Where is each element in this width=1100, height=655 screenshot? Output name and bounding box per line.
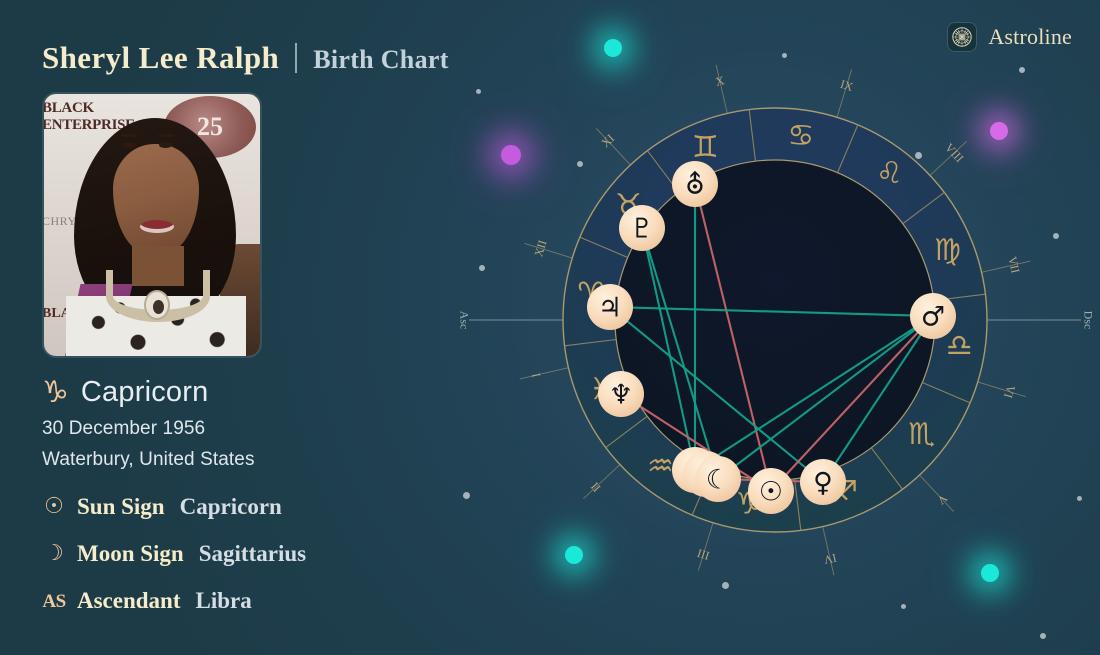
fact-value-moon: Sagittarius [199,541,306,567]
house-numeral-XII: XII [531,238,549,258]
house-numeral-X: X [714,73,726,89]
zodiac-cancer-icon: ♋ [787,118,814,153]
house-cusp-line [920,475,954,512]
planet-neptune[interactable]: ♆ [598,371,644,417]
neptune-icon: ♆ [609,380,633,411]
planet-jupiter[interactable]: ♃ [587,284,633,330]
chart-canvas: Sheryl Lee Ralph Birth Chart [0,0,1100,655]
moon-icon: ☽ [42,543,66,565]
fact-label-moon: Moon Sign [77,541,184,567]
zodiac-gemini-icon: ♊ [692,130,719,165]
fact-label-sun: Sun Sign [77,494,165,520]
house-cusp-line [596,128,630,165]
photo-pendant [144,290,170,320]
birth-chart-wheel[interactable]: AscDsc♈♉♊♋♌♍♎♏♐♑♒♓IIIIIIIVVVIVIIVIIIIXXX… [448,0,1100,655]
capricorn-icon: ♑ [42,378,69,408]
house-numeral-VIII: VIII [942,140,966,165]
planet-moon[interactable]: ☾ [695,456,741,502]
photo-eye-left [123,142,136,148]
house-cusp-line [583,465,620,499]
planet-venus[interactable]: ♀ [800,459,846,505]
house-cusp-line [520,368,569,379]
fact-value-ascendant: Libra [196,588,252,614]
primary-sign-label: Capricorn [81,376,209,409]
planet-mars[interactable]: ♂ [910,293,956,339]
page-title: Sheryl Lee Ralph Birth Chart [42,40,449,76]
zodiac-scorpio-icon: ♏ [908,417,935,452]
ascendant-icon: AS [42,592,66,611]
sun-icon: ☉ [759,477,783,508]
planet-sun[interactable]: ☉ [748,468,794,514]
house-cusp-line [716,65,727,114]
house-numeral-VI: VI [1001,384,1018,400]
photo-brow-left [121,134,137,137]
house-cusp-line [823,527,834,576]
pluto-icon: ♇ [630,214,654,245]
fact-sun-sign: ☉ Sun Sign Capricorn [42,494,282,520]
axis-label-asc: Asc [457,311,471,330]
zodiac-libra-icon: ♎ [946,328,973,363]
photo-brow-right [158,134,174,137]
house-numeral-I: I [529,372,544,379]
mars-icon: ♂ [921,302,945,333]
fact-label-ascendant: Ascendant [77,588,181,614]
fact-ascendant: AS Ascendant Libra [42,588,252,614]
title-divider [295,43,297,73]
zodiac-leo-icon: ♌ [876,156,903,191]
house-numeral-VII: VII [1005,255,1022,274]
jupiter-icon: ♃ [598,293,622,324]
uranus-icon: ⛢ [685,170,705,201]
house-numeral-IV: IV [822,551,838,568]
zodiac-virgo-icon: ♍ [934,233,961,268]
primary-sign: ♑ Capricorn [42,376,208,409]
fact-moon-sign: ☽ Moon Sign Sagittarius [42,541,306,567]
fact-value-sun: Capricorn [180,494,282,520]
avatar: BLACK ENTERPRISE 25 CHRYS BLACK ENT [42,92,262,358]
zodiac-aquarius-icon: ♒ [647,449,674,484]
chart-type-label: Birth Chart [313,45,448,75]
planet-uranus[interactable]: ⛢ [672,161,718,207]
planet-pluto[interactable]: ♇ [619,205,665,251]
birth-place: Waterbury, United States [42,449,255,471]
photo-eye-right [159,142,172,148]
venus-icon: ♀ [813,468,833,499]
axis-label-dsc: Dsc [1081,311,1095,330]
person-name: Sheryl Lee Ralph [42,40,279,76]
moon-icon: ☾ [706,465,730,496]
house-numeral-III: III [696,546,712,563]
sun-icon: ☉ [42,496,66,518]
photo-lips [140,220,174,233]
house-numeral-IX: IX [839,77,856,94]
birth-date: 30 December 1956 [42,418,205,440]
